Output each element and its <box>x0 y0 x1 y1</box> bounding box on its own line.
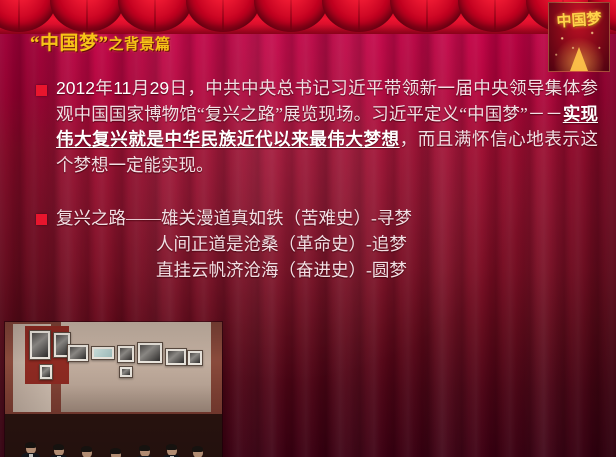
para-seg-2: 11 <box>113 78 131 98</box>
couplets-lead: 复兴之路—— <box>56 208 161 228</box>
bullet-marker-square-icon <box>36 85 47 96</box>
couplet-line-2-text: 人间正道是沧桑（革命史）-追梦 <box>156 234 407 254</box>
bullet-couplets: 复兴之路——雄关漫道真如铁（苦难史）-寻梦 人间正道是沧桑（革命史）-追梦 直挂… <box>0 205 616 283</box>
photo-framed-picture <box>137 342 163 364</box>
photo-framed-picture <box>39 364 53 380</box>
para-seg-4: 29 <box>150 78 169 98</box>
photo-framed-picture <box>165 348 187 366</box>
exhibition-hall-photo <box>5 322 222 457</box>
logo-title-text: 中国梦 <box>548 7 609 32</box>
bullet-paragraph: 2012年11月29日，中共中央总书记习近平带领新一届中央领导集体参观中国国家博… <box>0 76 616 178</box>
page-title-rest: 之背景篇 <box>109 37 171 53</box>
photo-framed-picture <box>187 350 203 366</box>
couplet-line-1: 复兴之路——雄关漫道真如铁（苦难史）-寻梦 <box>56 205 598 231</box>
photo-framed-picture <box>67 344 89 362</box>
couplets-text: 复兴之路——雄关漫道真如铁（苦难史）-寻梦 人间正道是沧桑（革命史）-追梦 直挂… <box>36 205 598 283</box>
couplet-line-3: 直挂云帆济沧海（奋进史）-圆梦 <box>56 257 598 283</box>
photo-wall-panel-right <box>61 322 211 412</box>
photo-framed-picture <box>29 330 51 360</box>
bullet-marker-square-icon <box>36 214 47 225</box>
logo-torch-icon <box>570 47 588 71</box>
para-seg-1: 年 <box>95 78 113 98</box>
para-seg-3: 月 <box>131 78 149 98</box>
couplet-line-1-text: 雄关漫道真如铁（苦难史）-寻梦 <box>161 208 412 228</box>
photo-framed-picture <box>117 345 135 363</box>
photo-framed-text-panel <box>91 346 115 360</box>
couplet-line-2: 人间正道是沧桑（革命史）-追梦 <box>56 231 598 257</box>
slide-canvas: 中国梦 “中国梦”之背景篇 2012年11月29日，中共中央总书记习近平带领新一… <box>0 0 616 457</box>
para-seg-0: 2012 <box>56 78 95 98</box>
paragraph-text: 2012年11月29日，中共中央总书记习近平带领新一届中央领导集体参观中国国家博… <box>36 76 598 178</box>
couplet-line-3-text: 直挂云帆济沧海（奋进史）-圆梦 <box>156 260 407 280</box>
slide-body: 2012年11月29日，中共中央总书记习近平带领新一届中央领导集体参观中国国家博… <box>0 70 616 283</box>
page-title-quoted: “中国梦” <box>30 33 109 54</box>
photo-framed-picture <box>119 366 133 378</box>
china-dream-logo: 中国梦 <box>548 2 610 72</box>
page-title: “中国梦”之背景篇 <box>30 28 171 55</box>
